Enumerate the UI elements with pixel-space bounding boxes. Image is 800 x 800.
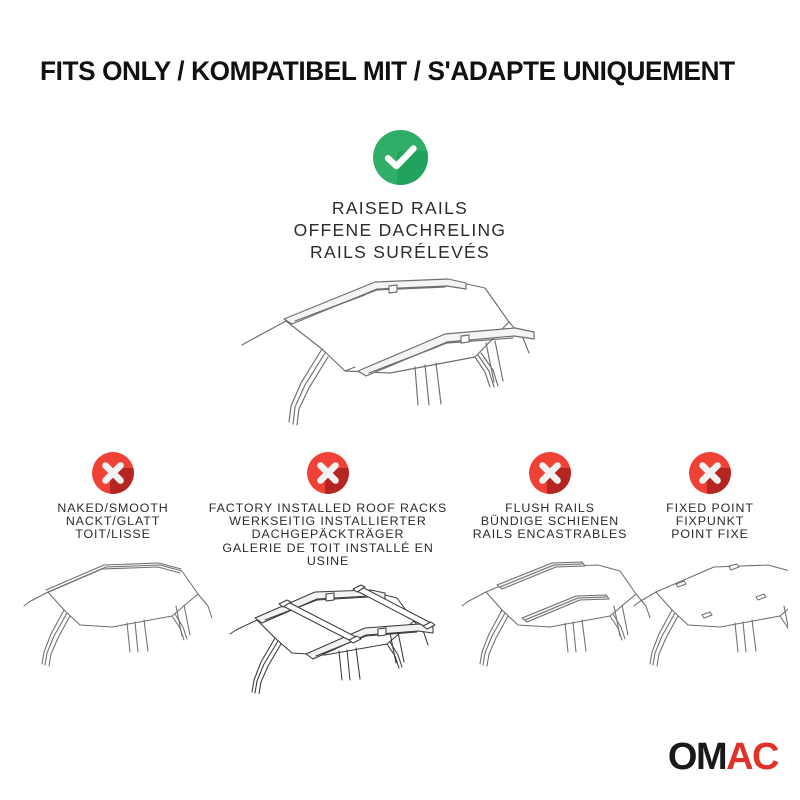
incompatible-label-fr: GALERIE DE TOIT INSTALLÉ EN USINE [205,542,451,568]
x-circle-icon [92,452,134,494]
x-mark-glyph [689,452,731,494]
incompatible-row: NAKED/SMOOTH NACKT/GLATT TOIT/LISSE [0,452,800,702]
x-circle-icon [307,452,349,494]
incompatible-item-factory-roof-rack: FACTORY INSTALLED ROOF RACKS WERKSEITIG … [205,452,451,694]
incompatible-label-de-2: DACHGEPÄCKTRÄGER [205,528,451,541]
car-roof-fixed-point-illustration [632,548,788,668]
check-mark-glyph [373,130,428,185]
car-roof-with-raised-rails-illustration [185,275,615,450]
page-title: FITS ONLY / KOMPATIBEL MIT / S'ADAPTE UN… [40,56,748,86]
incompatible-item-naked-smooth: NAKED/SMOOTH NACKT/GLATT TOIT/LISSE [8,452,218,668]
compatible-label-fr: RAILS SURÉLEVÉS [0,241,800,263]
compatible-label-de: OFFENE DACHRELING [0,219,800,241]
incompatible-labels: FACTORY INSTALLED ROOF RACKS WERKSEITIG … [205,502,451,568]
incompatible-labels: FIXED POINT FIXPUNKT POINT FIXE [632,502,788,542]
compatible-block: RAISED RAILS OFFENE DACHRELING RAILS SUR… [0,130,800,263]
x-mark-glyph [307,452,349,494]
check-circle-icon [373,130,428,185]
incompatible-labels: FLUSH RAILS BÜNDIGE SCHIENEN RAILS ENCAS… [448,502,652,542]
incompatible-label-fr: RAILS ENCASTRABLES [448,528,652,541]
incompatible-label-fr: POINT FIXE [632,528,788,541]
compatible-label-en: RAISED RAILS [0,197,800,219]
compatible-labels: RAISED RAILS OFFENE DACHRELING RAILS SUR… [0,197,800,263]
incompatible-labels: NAKED/SMOOTH NACKT/GLATT TOIT/LISSE [8,502,218,542]
x-circle-icon [689,452,731,494]
incompatible-item-fixed-point: FIXED POINT FIXPUNKT POINT FIXE [632,452,788,668]
x-mark-glyph [529,452,571,494]
car-roof-naked-smooth-illustration [8,548,218,668]
car-roof-flush-rails-illustration [448,548,652,668]
logo-text-red: AC [726,736,778,778]
incompatible-item-flush-rails: FLUSH RAILS BÜNDIGE SCHIENEN RAILS ENCAS… [448,452,652,668]
logo-text-black: OM [668,736,726,778]
omac-logo: OMAC [668,738,778,776]
incompatible-label-fr: TOIT/LISSE [8,528,218,541]
x-mark-glyph [92,452,134,494]
car-roof-factory-roof-rack-illustration [205,574,451,694]
x-circle-icon [529,452,571,494]
